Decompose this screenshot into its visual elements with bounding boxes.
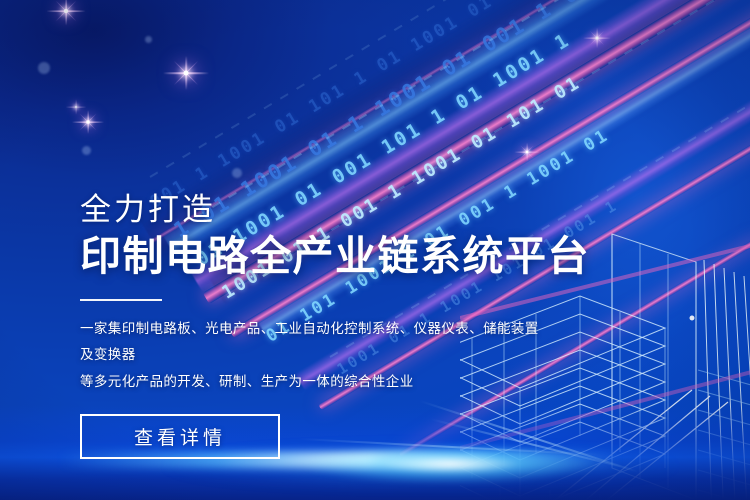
hero-content: 全力打造 印制电路全产业链系统平台 一家集印制电路板、光电产品、工业自动化控制系… (80, 192, 600, 459)
bokeh-dot-4 (232, 168, 242, 178)
view-details-button[interactable]: 查看详情 (80, 414, 280, 459)
bokeh-dot-1 (38, 62, 50, 74)
hero-divider (80, 299, 162, 301)
bokeh-dot-2 (82, 146, 91, 155)
hero-description-line-2: 等多元化产品的开发、研制、生产为一体的综合性企业 (80, 369, 550, 395)
bokeh-dot-3 (145, 36, 152, 43)
hero-eyebrow: 全力打造 (80, 192, 600, 228)
hero-banner: 1 01 1001 01 1 1001 01 001 1 01 01 1001 … (0, 0, 750, 500)
hero-description: 一家集印制电路板、光电产品、工业自动化控制系统、仪器仪表、储能装置及变换器 等多… (80, 316, 550, 395)
hero-description-line-1: 一家集印制电路板、光电产品、工业自动化控制系统、仪器仪表、储能装置及变换器 (80, 316, 550, 369)
hero-headline: 印制电路全产业链系统平台 (80, 234, 600, 278)
